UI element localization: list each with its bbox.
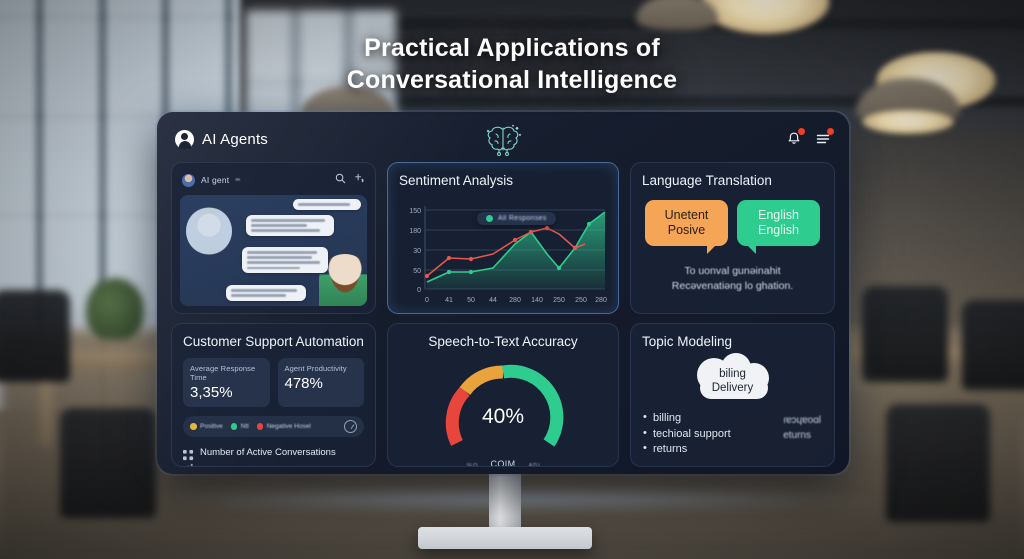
page-title: Practical Applications of Conversational… xyxy=(0,32,1024,96)
topic-cloud-wrap: biling Delivery xyxy=(642,353,823,409)
sentiment-chart: 150 180 30 50 0 0 41 50 44 280 140 250 2… xyxy=(399,196,607,308)
stat-label: Average Response Time xyxy=(190,364,263,382)
translation-bubbles: Unetent Posive English English xyxy=(642,200,823,246)
accuracy-value: 40% xyxy=(440,405,566,429)
chat-conversation xyxy=(180,195,367,306)
active-conversations-label: Number of Active Conversations xyxy=(200,447,336,458)
topic-item: returns xyxy=(642,442,823,458)
translation-caption: To uonval gunəinahit Recəvenatiəng lo gh… xyxy=(642,264,823,294)
chat-bubble xyxy=(246,215,334,236)
svg-text:250: 250 xyxy=(553,297,565,304)
gauge-svg xyxy=(440,355,566,453)
svg-text:280: 280 xyxy=(595,297,607,304)
topic-ghost-line2: eturns xyxy=(783,428,821,443)
legend-label: All Responses xyxy=(498,215,547,222)
translation-target-line2: English xyxy=(743,223,814,238)
legend-label-positive: Positive xyxy=(200,423,223,430)
translation-target-line1: English xyxy=(743,208,814,223)
translation-source-line2: Posive xyxy=(651,223,722,238)
chat-bubble xyxy=(242,247,328,273)
dashboard-grid: AI gent •• xyxy=(171,162,835,467)
svg-text:50: 50 xyxy=(413,268,421,275)
speech-to-text-card: Speech-to-Text Accuracy 40% SLO COIM AZU xyxy=(387,323,619,467)
chat-card: AI gent •• xyxy=(171,162,376,314)
gauge-footer: SLO COIM AZU xyxy=(466,459,539,467)
topic-ghost-text: ıɐɔɥɐoɑl eturns xyxy=(783,413,821,443)
legend-dot-positive xyxy=(190,423,197,430)
page-title-line2: Conversational Intelligence xyxy=(0,64,1024,96)
legend-dot-negative xyxy=(257,423,264,430)
topic-body: billing techioal support returns ıɐɔɥɐoɑ… xyxy=(642,411,823,458)
cloud-icon: biling Delivery xyxy=(680,353,786,403)
topic-ghost-line1: ıɐɔɥɐoɑl xyxy=(783,413,821,428)
brain-icon xyxy=(483,123,523,164)
active-conversations-row: Number of Active Conversations xyxy=(183,447,364,459)
gauge-foot-center: COIM xyxy=(490,459,515,467)
gauge-foot-right: AZU xyxy=(529,463,540,467)
translation-caption-line1: To uonval gunəinahit xyxy=(642,264,823,279)
menu-badge xyxy=(827,128,834,135)
active-conversations-value: 0006% xyxy=(200,466,228,467)
support-stats: Average Response Time 3,35% Agent Produc… xyxy=(183,358,364,407)
topic-title: Topic Modeling xyxy=(642,334,823,349)
monitor-base xyxy=(418,527,592,549)
svg-text:280: 280 xyxy=(509,297,521,304)
translation-source-line1: Unetent xyxy=(651,208,722,223)
svg-text:30: 30 xyxy=(413,248,421,255)
grid-icon xyxy=(183,448,194,459)
stat-value: 3,35% xyxy=(190,384,263,401)
stat-average-response-time: Average Response Time 3,35% xyxy=(183,358,270,407)
legend-label-negative: Negative Hosel xyxy=(267,423,311,430)
svg-text:44: 44 xyxy=(489,297,497,304)
cloud-text: biling Delivery xyxy=(680,367,786,395)
bell-icon[interactable] xyxy=(786,131,802,147)
search-icon[interactable] xyxy=(335,171,346,189)
chat-tools xyxy=(335,171,365,189)
chat-bubble xyxy=(293,199,361,210)
legend-item-negative: Negative Hosel xyxy=(257,423,311,430)
svg-text:250: 250 xyxy=(575,297,587,304)
hamburger-menu-icon[interactable] xyxy=(815,131,831,147)
speech-title: Speech-to-Text Accuracy xyxy=(428,334,577,349)
svg-text:50: 50 xyxy=(467,297,475,304)
legend-dot-neutral xyxy=(231,423,238,430)
app-header: AI Agents xyxy=(171,122,835,156)
svg-text:0: 0 xyxy=(425,297,429,304)
legend-dot xyxy=(486,215,493,222)
gauge-foot-left: SLO xyxy=(466,463,477,467)
support-title: Customer Support Automation xyxy=(183,334,364,349)
active-conversations-value-row: 0006% xyxy=(183,461,364,467)
svg-text:180: 180 xyxy=(409,228,421,235)
translation-caption-line2: Recəvenatiəng lo ghation. xyxy=(642,279,823,294)
svg-text:140: 140 xyxy=(531,297,543,304)
sentiment-title: Sentiment Analysis xyxy=(399,173,607,188)
notification-badge xyxy=(798,128,805,135)
user-avatar-icon xyxy=(175,130,194,149)
cloud-line2: Delivery xyxy=(680,381,786,395)
chart-icon xyxy=(183,461,194,467)
stat-value: 478% xyxy=(285,375,358,392)
chat-agent-suffix: •• xyxy=(235,177,240,184)
brand[interactable]: AI Agents xyxy=(175,130,268,149)
translation-title: Language Translation xyxy=(642,173,823,188)
chat-bubble xyxy=(226,285,306,301)
translation-source-bubble: Unetent Posive xyxy=(645,200,728,246)
sentiment-analysis-card: Sentiment Analysis 150 180 30 50 0 xyxy=(387,162,619,314)
chat-avatar xyxy=(182,174,195,187)
header-actions xyxy=(786,131,831,147)
translation-target-bubble: English English xyxy=(737,200,820,246)
cloud-line1: biling xyxy=(680,367,786,381)
stat-label: Agent Productivity xyxy=(285,364,358,373)
sentiment-legend-row: Positive Ntl Negative Hosel xyxy=(183,416,364,437)
svg-text:0: 0 xyxy=(417,287,421,294)
accuracy-gauge: 40% xyxy=(440,355,566,458)
legend-item-neutral: Ntl xyxy=(231,423,249,430)
stat-agent-productivity: Agent Productivity 478% xyxy=(278,358,365,407)
chat-card-header: AI gent •• xyxy=(180,170,367,195)
chart-legend: All Responses xyxy=(477,212,556,225)
customer-support-card: Customer Support Automation Average Resp… xyxy=(171,323,376,467)
sparkle-icon[interactable] xyxy=(354,171,365,189)
svg-text:41: 41 xyxy=(445,297,453,304)
chat-agent-name: AI gent xyxy=(201,175,229,185)
svg-text:150: 150 xyxy=(409,208,421,215)
legend-item-positive: Positive xyxy=(190,423,223,430)
app-title: AI Agents xyxy=(202,131,268,148)
man-avatar xyxy=(186,207,232,255)
speedometer-icon[interactable] xyxy=(344,420,357,433)
monitor-screen: AI Agents xyxy=(157,112,849,474)
language-translation-card: Language Translation Unetent Posive Engl… xyxy=(630,162,835,314)
topic-modeling-card: Topic Modeling biling Delivery xyxy=(630,323,835,467)
page-title-line1: Practical Applications of xyxy=(0,32,1024,64)
legend-label-neutral: Ntl xyxy=(241,423,249,430)
